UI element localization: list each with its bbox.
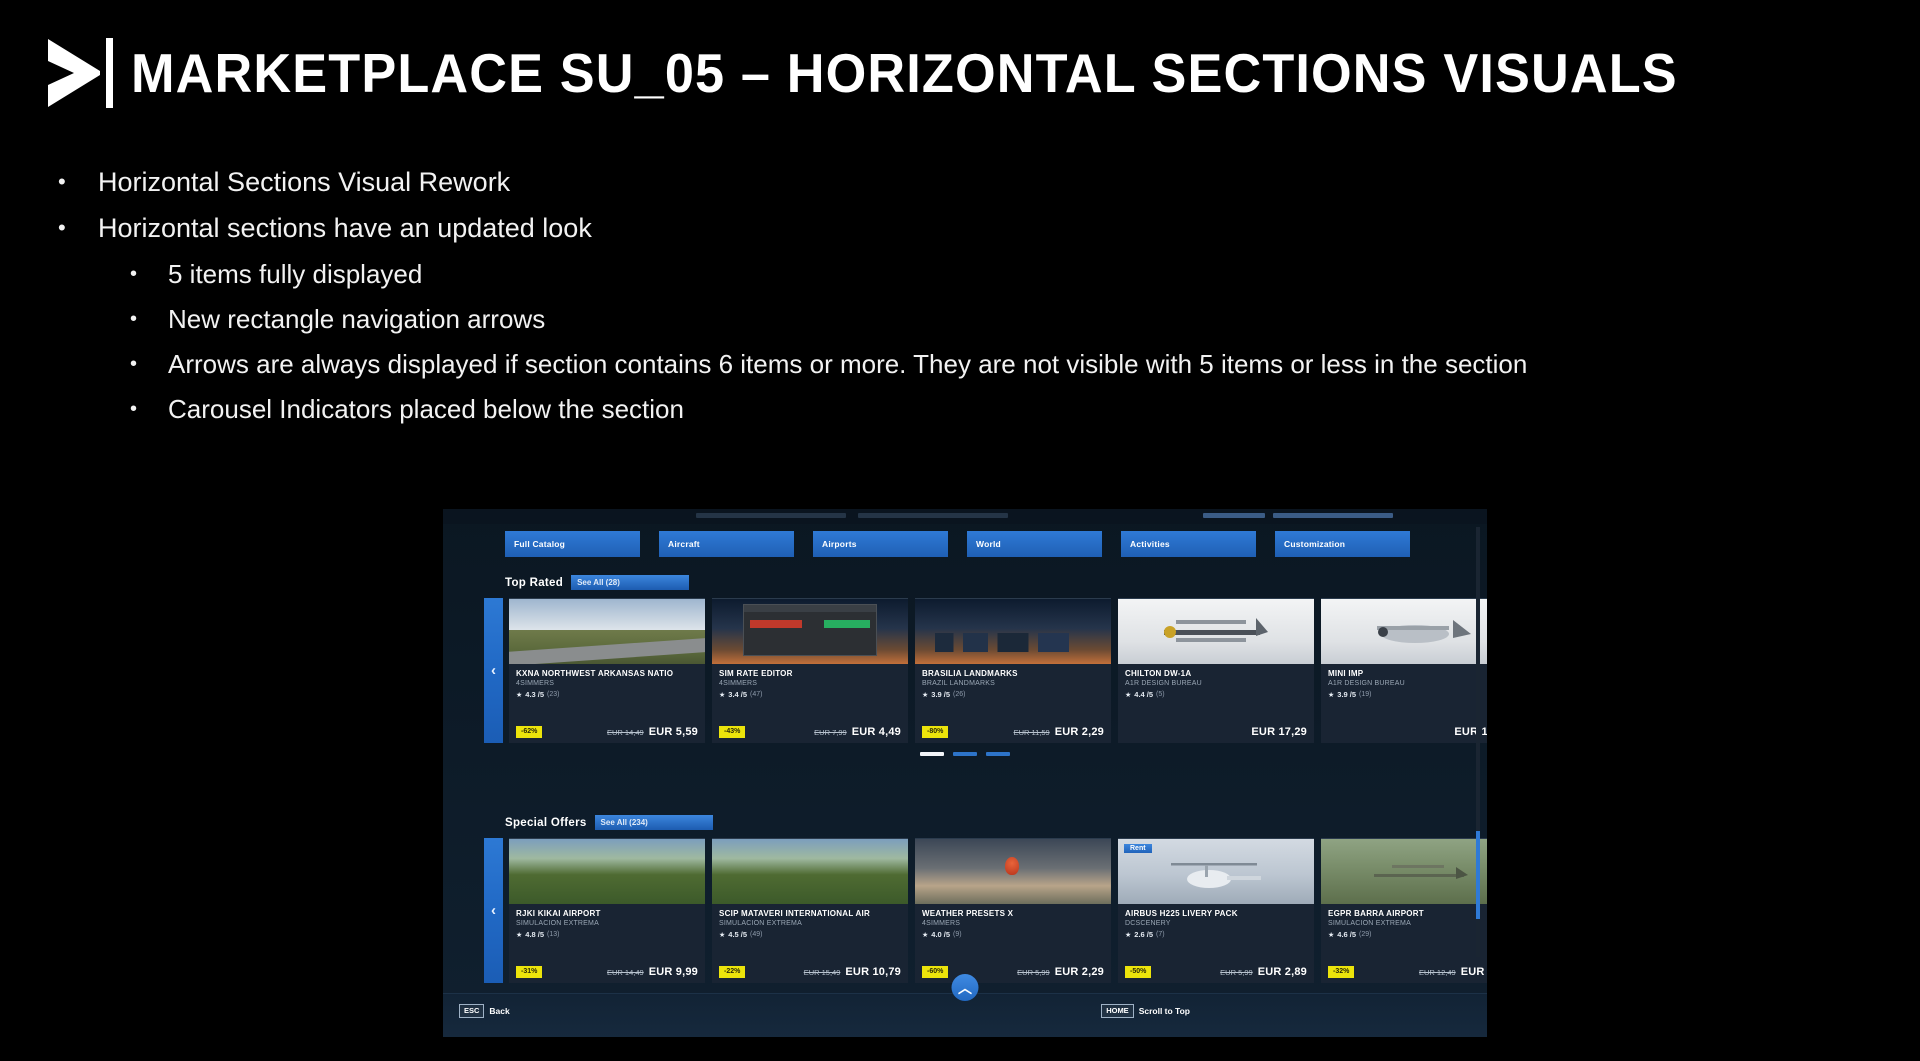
discount-badge: -43%: [719, 726, 745, 738]
top-strip-pill: [1273, 513, 1393, 518]
product-card[interactable]: SCIP MATAVERI INTERNATIONAL AIR SIMULACI…: [712, 838, 908, 983]
discount-badge: -32%: [1328, 966, 1354, 978]
marketplace-screenshot: Full Catalog Aircraft Airports World Act…: [443, 509, 1487, 1037]
carousel-row: ‹ › RJKI KIKAI AIRPORT SIMULACIÓN EXTREM…: [443, 838, 1487, 983]
old-price: EUR 14,49: [607, 968, 644, 977]
product-thumbnail: [915, 599, 1111, 664]
section-top-rated: Top Rated See All (28) ‹ ›: [443, 575, 1487, 756]
top-strip-pill: [696, 513, 846, 518]
tab-airports[interactable]: Airports: [813, 531, 948, 557]
rent-badge: Rent: [1124, 844, 1152, 853]
product-pricing: -62% EUR 14,49 EUR 5,59: [509, 726, 705, 738]
home-key-badge: HOME: [1101, 1004, 1134, 1018]
product-name: MINI IMP: [1328, 669, 1487, 678]
rating-count: (5): [1156, 691, 1165, 698]
discount-badge: -31%: [516, 966, 542, 978]
chevron-up-icon: ︿: [958, 978, 972, 998]
product-developer: A1R DESIGN BUREAU: [1328, 680, 1487, 687]
old-price: EUR 7,99: [814, 728, 847, 737]
star-icon: ★: [1328, 931, 1334, 939]
rating-count: (49): [750, 931, 762, 938]
rating-count: (29): [1359, 931, 1371, 938]
tab-world[interactable]: World: [967, 531, 1102, 557]
star-icon: ★: [516, 691, 522, 699]
rating-count: (23): [547, 691, 559, 698]
product-card[interactable]: BRASILIA LANDMARKS BRAZIL LANDMARKS ★ 3.…: [915, 598, 1111, 743]
product-card[interactable]: WEATHER PRESETS X 4SIMMERS ★ 4.0 /5 (9) …: [915, 838, 1111, 983]
current-price: EUR 2,29: [1055, 966, 1104, 978]
product-card[interactable]: MINI IMP A1R DESIGN BUREAU ★ 3.9 /5 (19): [1321, 598, 1487, 743]
product-thumbnail: [1118, 599, 1314, 664]
product-rating: ★ 4.8 /5 (13): [516, 930, 698, 939]
product-rating: ★ 4.4 /5 (5): [1125, 690, 1307, 699]
card-list: RJKI KIKAI AIRPORT SIMULACIÓN EXTREMA ★ …: [509, 838, 1487, 983]
discount-badge: [1328, 731, 1354, 733]
tab-full-catalog[interactable]: Full Catalog: [505, 531, 640, 557]
product-developer: 4SIMMERS: [719, 680, 901, 687]
product-thumbnail: [712, 839, 908, 904]
current-price: EUR 18,69: [1454, 726, 1487, 738]
section-special-offers: Special Offers See All (234) ‹ ›: [443, 815, 1487, 983]
discount-badge: -60%: [922, 966, 948, 978]
current-price: EUR 17,29: [1251, 726, 1307, 738]
product-developer: SIMULACIÓN EXTREMA: [1328, 920, 1487, 927]
product-developer: 4SIMMERS: [516, 680, 698, 687]
product-pricing: -50% EUR 5,99 EUR 2,89: [1118, 966, 1314, 978]
discount-badge: -62%: [516, 726, 542, 738]
product-name: KXNA NORTHWEST ARKANSAS NATIO: [516, 669, 698, 678]
carousel-indicator[interactable]: [953, 752, 977, 756]
top-strip: [443, 509, 1487, 524]
bullet-marker: •: [58, 160, 98, 204]
bullet-marker: •: [130, 252, 168, 297]
bullet-text: Horizontal Sections Visual Rework: [98, 160, 510, 204]
section-title: Top Rated: [505, 577, 563, 589]
old-price: EUR 14,49: [607, 728, 644, 737]
product-thumbnail: Rent: [1118, 839, 1314, 904]
product-name: SCIP MATAVERI INTERNATIONAL AIR: [719, 909, 901, 918]
product-card[interactable]: SIM RATE EDITOR 4SIMMERS ★ 3.4 /5 (47) -…: [712, 598, 908, 743]
vertical-scrollbar[interactable]: [1476, 527, 1480, 957]
product-pricing: -60% EUR 5,99 EUR 2,29: [915, 966, 1111, 978]
product-pricing: -80% EUR 11,59 EUR 2,29: [915, 726, 1111, 738]
star-icon: ★: [922, 691, 928, 699]
product-name: BRASILIA LANDMARKS: [922, 669, 1104, 678]
product-pricing: -22% EUR 15,49 EUR 10,79: [712, 966, 908, 978]
tab-aircraft[interactable]: Aircraft: [659, 531, 794, 557]
section-header: Special Offers See All (234): [505, 815, 1487, 830]
category-tabs: Full Catalog Aircraft Airports World Act…: [505, 531, 1410, 557]
old-price: EUR 15,49: [804, 968, 841, 977]
product-card[interactable]: RJKI KIKAI AIRPORT SIMULACIÓN EXTREMA ★ …: [509, 838, 705, 983]
product-thumbnail: [712, 599, 908, 664]
bullet-text: Carousel Indicators placed below the sec…: [168, 387, 684, 432]
product-developer: 4SIMMERS: [922, 920, 1104, 927]
rating-value: 3.9 /5: [931, 690, 950, 699]
product-card[interactable]: KXNA NORTHWEST ARKANSAS NATIO 4SIMMERS ★…: [509, 598, 705, 743]
section-header: Top Rated See All (28): [505, 575, 1487, 590]
product-rating: ★ 2.6 /5 (7): [1125, 930, 1307, 939]
product-pricing: -31% EUR 14,49 EUR 9,99: [509, 966, 705, 978]
product-name: WEATHER PRESETS X: [922, 909, 1104, 918]
current-price: EUR 4,49: [852, 726, 901, 738]
product-developer: A1R DESIGN BUREAU: [1125, 680, 1307, 687]
scroll-top-label: Scroll to Top: [1139, 1006, 1190, 1016]
rating-count: (47): [750, 691, 762, 698]
bullet-list: • Horizontal Sections Visual Rework • Ho…: [58, 160, 1868, 432]
bullet-level2: • 5 items fully displayed: [130, 252, 1868, 297]
bullet-level2: • Arrows are always displayed if section…: [130, 342, 1868, 387]
carousel-indicator[interactable]: [920, 752, 944, 756]
current-price: EUR 5,59: [649, 726, 698, 738]
product-card[interactable]: CHILTON DW-1A A1R DESIGN BUREAU ★ 4.4 /5…: [1118, 598, 1314, 743]
product-rating: ★ 4.5 /5 (49): [719, 930, 901, 939]
product-name: AIRBUS H225 LIVERY PACK: [1125, 909, 1307, 918]
bullet-marker: •: [130, 342, 168, 387]
product-rating: ★ 3.9 /5 (26): [922, 690, 1104, 699]
rating-value: 4.3 /5: [525, 690, 544, 699]
rating-value: 4.0 /5: [931, 930, 950, 939]
product-developer: SIMULACIÓN EXTREMA: [719, 920, 901, 927]
old-price: EUR 11,59: [1014, 728, 1050, 737]
current-price: EUR 10,79: [845, 966, 901, 978]
rating-value: 4.5 /5: [728, 930, 747, 939]
discount-badge: -22%: [719, 966, 745, 978]
bullet-level2: • Carousel Indicators placed below the s…: [130, 387, 1868, 432]
current-price: EUR 8,59: [1461, 966, 1487, 978]
top-strip-pill: [1203, 513, 1265, 518]
product-name: EGPR BARRA AIRPORT: [1328, 909, 1487, 918]
star-icon: ★: [516, 931, 522, 939]
section-title: Special Offers: [505, 817, 587, 829]
carousel-indicators: [443, 752, 1487, 756]
bullet-marker: •: [58, 206, 98, 250]
product-thumbnail: [509, 839, 705, 904]
star-icon: ★: [719, 931, 725, 939]
rating-count: (7): [1156, 931, 1165, 938]
star-icon: ★: [1328, 691, 1334, 699]
rating-value: 4.6 /5: [1337, 930, 1356, 939]
bullet-level2: • New rectangle navigation arrows: [130, 297, 1868, 342]
chevron-left-icon: ‹: [491, 902, 496, 919]
product-thumbnail: [1321, 839, 1487, 904]
rating-count: (19): [1359, 691, 1371, 698]
rating-count: (13): [547, 931, 559, 938]
product-pricing: EUR 18,69: [1321, 726, 1487, 738]
bullet-text: Horizontal sections have an updated look: [98, 206, 592, 250]
bullet-text: Arrows are always displayed if section c…: [168, 342, 1527, 387]
product-pricing: -32% EUR 12,49 EUR 8,59: [1321, 966, 1487, 978]
star-icon: ★: [719, 691, 725, 699]
product-developer: BRAZIL LANDMARKS: [922, 680, 1104, 687]
product-name: SIM RATE EDITOR: [719, 669, 901, 678]
chevron-right-logo-icon: [44, 37, 102, 109]
star-icon: ★: [1125, 691, 1131, 699]
current-price: EUR 2,29: [1055, 726, 1104, 738]
bullet-marker: •: [130, 387, 168, 432]
old-price: EUR 12,49: [1419, 968, 1456, 977]
top-strip-pill: [858, 513, 1008, 518]
carousel-row: ‹ › KXNA NORTHWEST ARKANSAS NATIO 4SIMME…: [443, 598, 1487, 743]
tab-customization[interactable]: Customization: [1275, 531, 1410, 557]
current-price: EUR 9,99: [649, 966, 698, 978]
product-developer: DCSCENERY: [1125, 920, 1307, 927]
product-pricing: EUR 17,29: [1118, 726, 1314, 738]
carousel-prev-arrow[interactable]: ‹: [484, 838, 503, 983]
title-divider: [106, 38, 113, 108]
see-all-button[interactable]: See All (234): [595, 815, 713, 830]
rating-count: (26): [953, 691, 965, 698]
star-icon: ★: [1125, 931, 1131, 939]
presentation-slide: MARKETPLACE SU_05 – HORIZONTAL SECTIONS …: [0, 0, 1920, 1061]
bullet-marker: •: [130, 297, 168, 342]
product-thumbnail: [509, 599, 705, 664]
product-rating: ★ 4.3 /5 (23): [516, 690, 698, 699]
bullet-text: 5 items fully displayed: [168, 252, 422, 297]
chevron-left-icon: ‹: [491, 662, 496, 679]
discount-badge: [1125, 731, 1151, 733]
bullet-level1: • Horizontal sections have an updated lo…: [58, 206, 1868, 250]
discount-badge: -50%: [1125, 966, 1151, 978]
product-rating: ★ 3.4 /5 (47): [719, 690, 901, 699]
rating-count: (9): [953, 931, 962, 938]
product-name: RJKI KIKAI AIRPORT: [516, 909, 698, 918]
product-rating: ★ 4.0 /5 (9): [922, 930, 1104, 939]
scroll-to-top-button[interactable]: ︿: [952, 974, 979, 1001]
slide-header: MARKETPLACE SU_05 – HORIZONTAL SECTIONS …: [44, 30, 1759, 116]
old-price: EUR 5,99: [1220, 968, 1253, 977]
rating-value: 2.6 /5: [1134, 930, 1153, 939]
current-price: EUR 2,89: [1258, 966, 1307, 978]
see-all-button[interactable]: See All (28): [571, 575, 689, 590]
product-rating: ★ 3.9 /5 (19): [1328, 690, 1487, 699]
product-developer: SIMULACIÓN EXTREMA: [516, 920, 698, 927]
product-rating: ★ 4.6 /5 (29): [1328, 930, 1487, 939]
product-thumbnail: [915, 839, 1111, 904]
product-thumbnail: [1321, 599, 1487, 664]
scroll-top-hint[interactable]: HOME Scroll to Top: [1101, 1004, 1190, 1018]
carousel-prev-arrow[interactable]: ‹: [484, 598, 503, 743]
bullet-text: New rectangle navigation arrows: [168, 297, 545, 342]
page-title: MARKETPLACE SU_05 – HORIZONTAL SECTIONS …: [131, 46, 1678, 101]
esc-key-badge: ESC: [459, 1004, 484, 1018]
bullet-level1: • Horizontal Sections Visual Rework: [58, 160, 1868, 204]
card-list: KXNA NORTHWEST ARKANSAS NATIO 4SIMMERS ★…: [509, 598, 1487, 743]
discount-badge: -80%: [922, 726, 948, 738]
carousel-indicator[interactable]: [986, 752, 1010, 756]
product-card[interactable]: EGPR BARRA AIRPORT SIMULACIÓN EXTREMA ★ …: [1321, 838, 1487, 983]
product-pricing: -43% EUR 7,99 EUR 4,49: [712, 726, 908, 738]
rating-value: 4.4 /5: [1134, 690, 1153, 699]
scrollbar-thumb[interactable]: [1476, 831, 1480, 919]
product-card[interactable]: Rent AIRBUS H225 LIVERY PACK DCSCENERY ★…: [1118, 838, 1314, 983]
old-price: EUR 5,99: [1017, 968, 1050, 977]
rating-value: 3.9 /5: [1337, 690, 1356, 699]
star-icon: ★: [922, 931, 928, 939]
rating-value: 3.4 /5: [728, 690, 747, 699]
back-label: Back: [489, 1006, 509, 1016]
back-hint[interactable]: ESC Back: [459, 1004, 510, 1018]
product-name: CHILTON DW-1A: [1125, 669, 1307, 678]
tab-activities[interactable]: Activities: [1121, 531, 1256, 557]
rating-value: 4.8 /5: [525, 930, 544, 939]
